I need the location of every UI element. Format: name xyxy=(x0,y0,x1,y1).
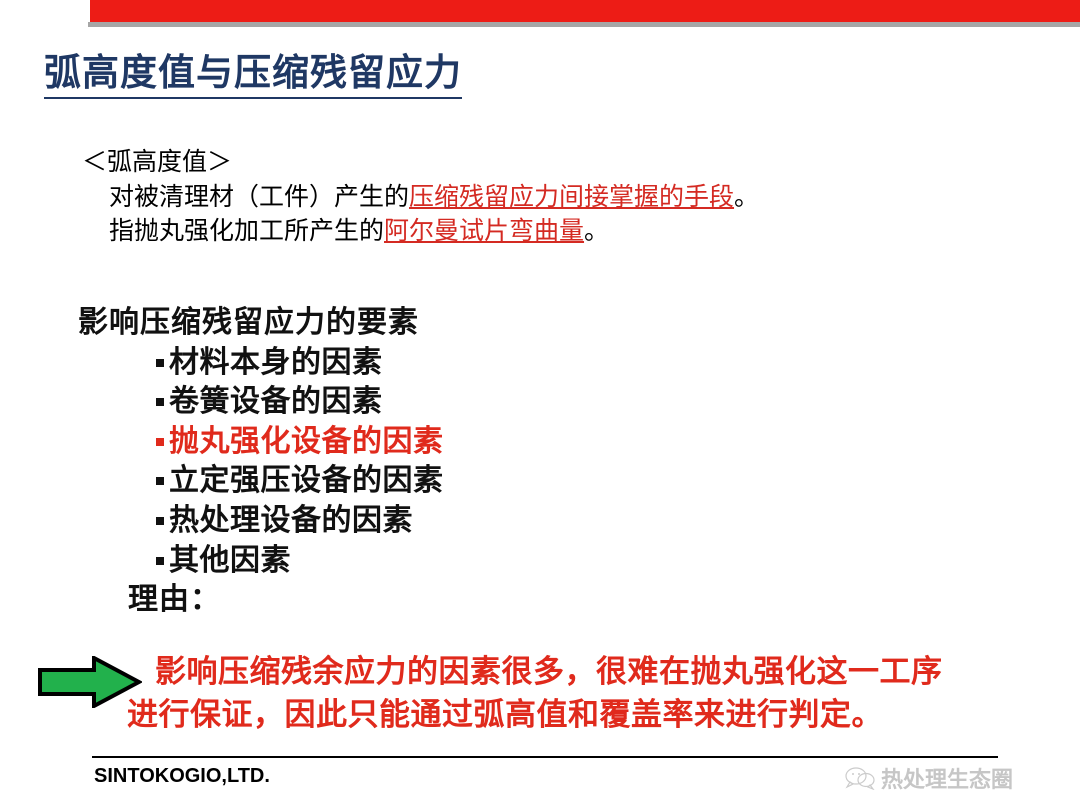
definition-line-1-highlight: 压缩残留应力间接掌握的手段 xyxy=(409,184,734,211)
definition-line-2: 指抛丸强化加工所产生的阿尔曼试片弯曲量。 xyxy=(82,215,759,250)
definition-line-2-prefix: 指抛丸强化加工所产生的 xyxy=(109,218,384,245)
list-item-label: 卷簧设备的因素 xyxy=(169,384,383,419)
definition-line-2-highlight: 阿尔曼试片弯曲量 xyxy=(384,218,584,245)
list-item: 材料本身的因素 xyxy=(78,343,444,383)
definition-line-1-suffix: 。 xyxy=(734,184,759,211)
factors-heading: 影响压缩残留应力的要素 xyxy=(78,303,444,343)
header-red-bar xyxy=(90,0,1080,22)
list-item-label: 抛丸强化设备的因素 xyxy=(169,424,444,459)
conclusion-text: 影响压缩残余应力的因素很多，很难在抛丸强化这一工序 进行保证，因此只能通过弧高值… xyxy=(127,651,1067,737)
bullet-square-icon xyxy=(156,517,164,525)
bullet-square-icon xyxy=(156,477,164,485)
footer-divider xyxy=(92,756,998,758)
bullet-square-icon xyxy=(156,398,164,406)
factors-block: 影响压缩残留应力的要素 材料本身的因素 卷簧设备的因素 抛丸强化设备的因素 立定… xyxy=(78,303,444,620)
page-title: 弧高度值与压缩残留应力 xyxy=(44,54,462,99)
list-item: 其他因素 xyxy=(78,541,444,581)
wechat-bubble-icon xyxy=(845,766,875,790)
list-item-highlighted: 抛丸强化设备的因素 xyxy=(78,422,444,462)
definition-line-1: 对被清理材（工件）产生的压缩残留应力间接掌握的手段。 xyxy=(82,181,759,216)
reason-label: 理由： xyxy=(78,580,444,620)
list-item-label: 立定强压设备的因素 xyxy=(169,463,444,498)
definition-line-2-suffix: 。 xyxy=(584,218,609,245)
list-item-label: 其他因素 xyxy=(169,543,291,578)
conclusion-line-2: 进行保证，因此只能通过弧高值和覆盖率来进行判定。 xyxy=(127,694,1067,737)
list-item-label: 热处理设备的因素 xyxy=(169,503,413,538)
conclusion-line-1: 影响压缩残余应力的因素很多，很难在抛丸强化这一工序 xyxy=(127,651,1067,694)
list-item-label: 材料本身的因素 xyxy=(169,345,383,380)
bullet-square-icon xyxy=(156,557,164,565)
watermark-text: 热处理生态圈 xyxy=(881,762,1013,794)
footer-brand: SINTOKOGIO,LTD. xyxy=(94,765,270,788)
definition-block: ＜弧高度值＞ 对被清理材（工件）产生的压缩残留应力间接掌握的手段。 指抛丸强化加… xyxy=(82,146,759,250)
list-item: 热处理设备的因素 xyxy=(78,501,444,541)
definition-line-1-prefix: 对被清理材（工件）产生的 xyxy=(109,184,409,211)
list-item: 立定强压设备的因素 xyxy=(78,461,444,501)
header-gray-rule xyxy=(88,22,1080,27)
bullet-square-icon xyxy=(156,438,164,446)
watermark: 热处理生态圈 xyxy=(845,762,1013,794)
definition-heading: ＜弧高度值＞ xyxy=(82,146,759,181)
bullet-square-icon xyxy=(156,359,164,367)
list-item: 卷簧设备的因素 xyxy=(78,382,444,422)
